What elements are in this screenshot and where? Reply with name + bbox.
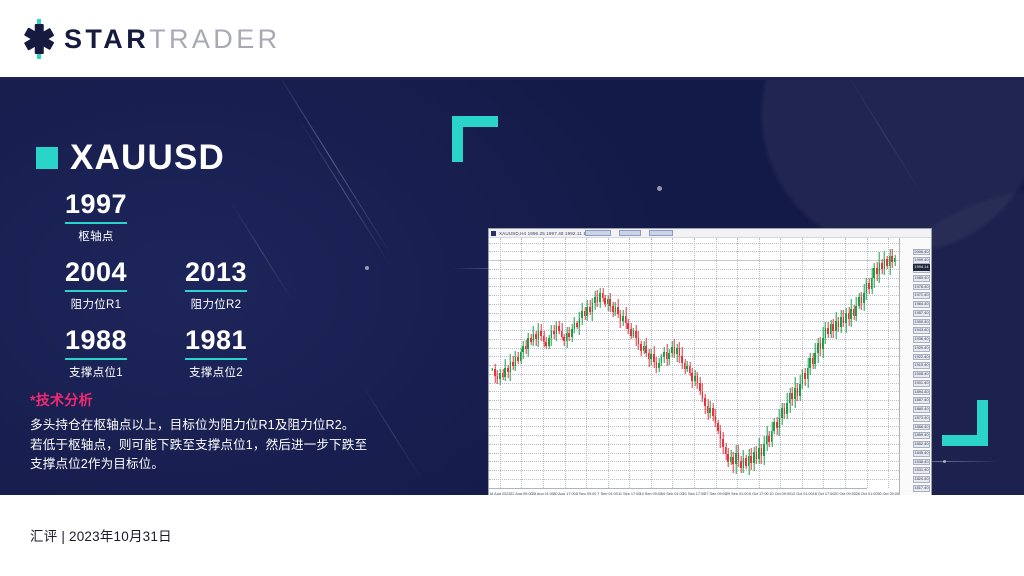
titlebar-chip [585,230,611,236]
candlestick [832,238,834,488]
candlestick [722,238,724,488]
levels-row-support: 1988 支撑点位1 1981 支撑点位2 [36,326,336,394]
candle-body [771,431,773,442]
candle-body [563,337,565,341]
candlestick [868,238,870,488]
candlestick [553,238,555,488]
candle-body [873,268,875,278]
candlestick [753,238,755,488]
candlestick [799,238,801,488]
candle-body [773,422,775,431]
candlestick [530,238,532,488]
levels-row-resistance: 2004 阻力位R1 2013 阻力位R2 [36,258,336,326]
candlestick [835,238,837,488]
candle-body [589,307,591,312]
candle-body [625,316,627,324]
candlestick [615,238,617,488]
candle-body [492,369,494,370]
logo-dot-bottom [37,54,41,59]
candlestick [686,238,688,488]
candle-body [617,307,619,315]
candlestick [551,238,553,488]
candle-body [766,436,768,445]
candlestick [809,238,811,488]
candlestick [666,238,668,488]
candle-body [674,347,676,355]
candlestick [592,238,594,488]
candlestick [520,238,522,488]
chart-window[interactable]: XAUUSD,H4 1996.25 1997.48 1992.11 1994.1… [488,228,932,495]
candlestick [804,238,806,488]
candle-body [556,326,558,335]
candlestick [607,238,609,488]
candlestick [884,238,886,488]
candlestick [612,238,614,488]
candle-body [748,456,750,466]
candlestick [776,238,778,488]
candle-body [656,362,658,368]
candle-body [725,447,727,455]
candle-body [707,406,709,414]
candlestick [617,238,619,488]
candle-body [604,298,606,304]
brand-logo[interactable]: STARTRADER [22,22,281,56]
price-tick-label: 1894.40 [913,389,930,396]
candlestick [861,238,863,488]
candle-body [504,368,506,377]
price-tick-label: 1838.40 [913,459,930,466]
candlestick [763,238,765,488]
pivot-levels: 1997 枢轴点 2004 阻力位R1 2013 阻力位R2 1988 支撑点位… [36,190,336,394]
current-price-label: 1994.14 [913,264,930,271]
brand-wordmark: STARTRADER [64,24,281,55]
square-bullet-icon [36,147,58,169]
candlestick [527,238,529,488]
candle-body [807,368,809,379]
candlestick [507,238,509,488]
candle-body [558,326,560,331]
candlestick [640,238,642,488]
candlestick [494,238,496,488]
candle-body [843,317,845,323]
candlestick [732,238,734,488]
candlestick [594,238,596,488]
candle-body [720,431,722,440]
candlestick [625,238,627,488]
candlestick [845,238,847,488]
candlestick [704,238,706,488]
candlestick [894,238,896,488]
price-tick-label: 1873.40 [913,415,930,422]
candle-body [868,283,870,289]
candle-body [776,422,778,428]
candlestick [886,238,888,488]
candle-body [499,373,501,379]
candlestick [694,238,696,488]
price-tick-label: 1957.40 [913,310,930,317]
hero-panel: XAUUSD 1997 枢轴点 2004 阻力位R1 2013 阻力位R2 [0,80,1024,495]
titlebar-chip [649,230,673,236]
candlestick [622,238,624,488]
candle-body [602,293,604,298]
candlestick [873,238,875,488]
candle-body [840,317,842,327]
candlestick [597,238,599,488]
candle-body [648,353,650,359]
candlestick [684,238,686,488]
candle-body [515,357,517,366]
candle-body [630,329,632,335]
analysis-heading: *技术分析 [30,390,400,410]
candle-body [643,346,645,351]
candlestick [740,238,742,488]
candle-body [709,408,711,413]
level-pivot: 1997 枢轴点 [36,190,156,244]
candle-body [568,333,570,337]
candlestick [730,238,732,488]
candlestick [661,238,663,488]
candle-body [561,331,563,337]
candle-body [763,444,765,455]
candlestick [497,238,499,488]
candlestick [535,238,537,488]
levels-row-pivot: 1997 枢轴点 [36,190,336,258]
candle-body [891,256,893,262]
candle-body [497,376,499,380]
candle-body [768,436,770,442]
candlestick [750,238,752,488]
price-tick-label: 1908.40 [913,371,930,378]
footer-caption: 汇评 | 2023年10月31日 [30,525,172,545]
candlestick [630,238,632,488]
candle-body [691,373,693,381]
decor-streak [844,80,924,198]
price-axis: 2006.401999.401992.401985.401978.401971.… [899,238,931,495]
candle-body [866,283,868,293]
candle-body [633,331,635,336]
analysis-line-2: 若低于枢轴点，则可能下跌至支撑点位1，然后进一步下跌至 [30,436,400,456]
candle-body [612,306,614,312]
candle-body [627,323,629,329]
candlestick [822,238,824,488]
candle-body [699,383,701,391]
candle-body [789,393,791,403]
level-label: 支撑点位1 [36,364,156,380]
candlestick [650,238,652,488]
price-tick-label: 1859.40 [913,432,930,439]
candle-body [894,258,896,262]
candlestick [576,238,578,488]
candle-body [527,338,529,349]
candle-body [502,373,504,377]
candlestick [771,238,773,488]
candlestick [825,238,827,488]
candle-body [548,338,550,346]
candle-body [684,363,686,369]
candle-body [702,391,704,399]
page-title: XAUUSD [70,138,225,178]
candlestick-plot[interactable]: 18 Aug 202322 Aug 09:0028 Aug 01:0030 Au… [489,238,899,495]
candlestick [538,238,540,488]
candlestick [545,238,547,488]
candlestick [889,238,891,488]
candlestick [515,238,517,488]
candle-body [850,309,852,319]
candle-body [576,323,578,327]
price-tick-label: 1880.40 [913,406,930,413]
candlestick [717,238,719,488]
level-value: 1988 [65,326,127,360]
candlestick [499,238,501,488]
price-tick-label: 1922.40 [913,354,930,361]
candle-body [809,358,811,368]
level-support-2: 1981 支撑点位2 [156,326,276,380]
candlestick [866,238,868,488]
candle-body [722,439,724,447]
candlestick [766,238,768,488]
titlebar-chip [619,230,641,236]
candle-body [689,366,691,374]
candlestick [781,238,783,488]
candlestick [789,238,791,488]
analysis-line-3: 支撑点位2作为目标位。 [30,455,400,475]
candlestick [586,238,588,488]
candlestick [702,238,704,488]
asterisk-icon [22,22,56,56]
candle-body [871,278,873,289]
candlestick [691,238,693,488]
candlestick [786,238,788,488]
candlestick [725,238,727,488]
time-axis: 18 Aug 202322 Aug 09:0028 Aug 01:0030 Au… [489,488,867,495]
candlestick [558,238,560,488]
level-value: 1981 [185,326,247,360]
candle-body [712,408,714,416]
candle-body [579,318,581,327]
candlestick [838,238,840,488]
price-tick-label: 2006.40 [913,249,930,256]
candle-body [830,324,832,334]
candlestick [663,238,665,488]
candle-body [715,416,717,424]
candle-body [615,307,617,312]
candle-body [553,331,555,335]
candle-body [517,357,519,361]
candlestick [502,238,504,488]
candle-body [820,343,822,349]
candle-body [533,334,535,342]
candle-body [607,299,609,304]
candlestick [858,238,860,488]
price-tick-label: 1831.40 [913,467,930,474]
analysis-body: 多头持仓在枢轴点以上，目标位为阻力位R1及阻力位R2。 若低于枢轴点，则可能下跌… [30,416,400,475]
candle-body [735,453,737,464]
candle-body [522,346,524,352]
candle-body [838,321,840,327]
candlestick [784,238,786,488]
candle-body [781,408,783,418]
candle-body [658,363,660,368]
candlestick [827,238,829,488]
candle-body [622,316,624,321]
candle-body [671,347,673,353]
candlestick [891,238,893,488]
candlestick [645,238,647,488]
candle-body [586,307,588,316]
level-support-1: 1988 支撑点位1 [36,326,156,380]
candlestick [681,238,683,488]
decor-dot [365,266,369,270]
candle-body [540,331,542,336]
candle-body [676,348,678,354]
candlestick [768,238,770,488]
candle-body [520,352,522,361]
candlestick [855,238,857,488]
candlestick [879,238,881,488]
candle-body [679,348,681,356]
candle-body [858,297,860,306]
candle-body [609,299,611,305]
price-tick-label: 1943.40 [913,327,930,334]
candlestick [853,238,855,488]
candlestick [720,238,722,488]
candlestick [812,238,814,488]
candlestick [814,238,816,488]
candle-body [835,321,837,331]
corner-bracket-top-left [452,116,498,162]
candlestick [589,238,591,488]
candle-body [886,259,888,265]
candlestick [492,238,494,488]
candlestick [568,238,570,488]
candlestick [522,238,524,488]
candle-body [756,452,758,460]
page-header: STARTRADER [0,0,1024,78]
candle-body [661,357,663,363]
candlestick [817,238,819,488]
candlestick [525,238,527,488]
candle-body [740,461,742,469]
candlestick [581,238,583,488]
candle-body [599,293,601,302]
candlestick [574,238,576,488]
price-tick-label: 1985.40 [913,275,930,282]
level-resistance-1: 2004 阻力位R1 [36,258,156,312]
decor-dot [657,186,662,191]
price-tick-label: 1936.40 [913,336,930,343]
candle-body [717,423,719,431]
candlestick [843,238,845,488]
price-tick-label: 1817.40 [913,485,930,492]
candlestick [599,238,601,488]
candlestick [674,238,676,488]
candlestick [668,238,670,488]
candlestick [579,238,581,488]
candle-body [861,297,863,303]
candlestick [658,238,660,488]
candle-body [686,366,688,370]
price-tick-label: 1929.40 [913,345,930,352]
candlestick [609,238,611,488]
candle-body [855,306,857,316]
candle-body [812,358,814,364]
candle-body [738,453,740,461]
candlestick [540,238,542,488]
candlestick [735,238,737,488]
candlestick [571,238,573,488]
candlestick [548,238,550,488]
candle-body [786,403,788,414]
analysis-line-1: 多头持仓在枢轴点以上，目标位为阻力位R1及阻力位R2。 [30,416,400,436]
price-tick-label: 1950.40 [913,319,930,326]
candlestick [643,238,645,488]
price-tick-label: 1978.40 [913,284,930,291]
candlestick [676,238,678,488]
candle-body [694,376,696,381]
candle-body [545,342,547,346]
candlestick [748,238,750,488]
candle-body [750,456,752,464]
candle-body [510,362,512,372]
price-tick-label: 1901.40 [913,380,930,387]
chart-titlebar: XAUUSD,H4 1996.25 1997.48 1992.11 1994.1… [489,229,931,238]
candle-body [876,268,878,274]
candle-body [827,328,829,334]
candlestick [679,238,681,488]
candlestick [533,238,535,488]
candlestick [653,238,655,488]
candle-body [494,369,496,375]
candle-body [758,448,760,459]
level-resistance-2: 2013 阻力位R2 [156,258,276,312]
candlestick [797,238,799,488]
candle-body [507,368,509,372]
candle-body [727,454,729,462]
candlestick [840,238,842,488]
candlestick [635,238,637,488]
candle-body [594,297,596,303]
candlestick [848,238,850,488]
candle-body [584,311,586,316]
chart-plot-area[interactable]: 18 Aug 202322 Aug 09:0028 Aug 01:0030 Au… [489,238,931,495]
candle-body [650,354,652,359]
candlestick [604,238,606,488]
candle-body [697,376,699,384]
price-tick-label: 1845.40 [913,450,930,457]
candlestick [863,238,865,488]
price-tick-label: 1824.40 [913,476,930,483]
candlestick [738,238,740,488]
candle-body [566,333,568,341]
candle-body [817,343,819,353]
level-value: 2004 [65,258,127,292]
candlestick [871,238,873,488]
candle-body [794,388,796,399]
price-tick-label: 1964.40 [913,301,930,308]
candlestick [715,238,717,488]
symbol-title-row: XAUUSD [36,138,225,178]
candlestick [633,238,635,488]
candle-body [551,331,553,339]
candle-body [889,256,891,266]
candlestick [758,238,760,488]
candle-body [804,373,806,379]
candle-body [730,457,732,462]
candlestick [761,238,763,488]
candlestick [743,238,745,488]
chart-app-icon [491,231,496,236]
candle-body [638,338,640,344]
